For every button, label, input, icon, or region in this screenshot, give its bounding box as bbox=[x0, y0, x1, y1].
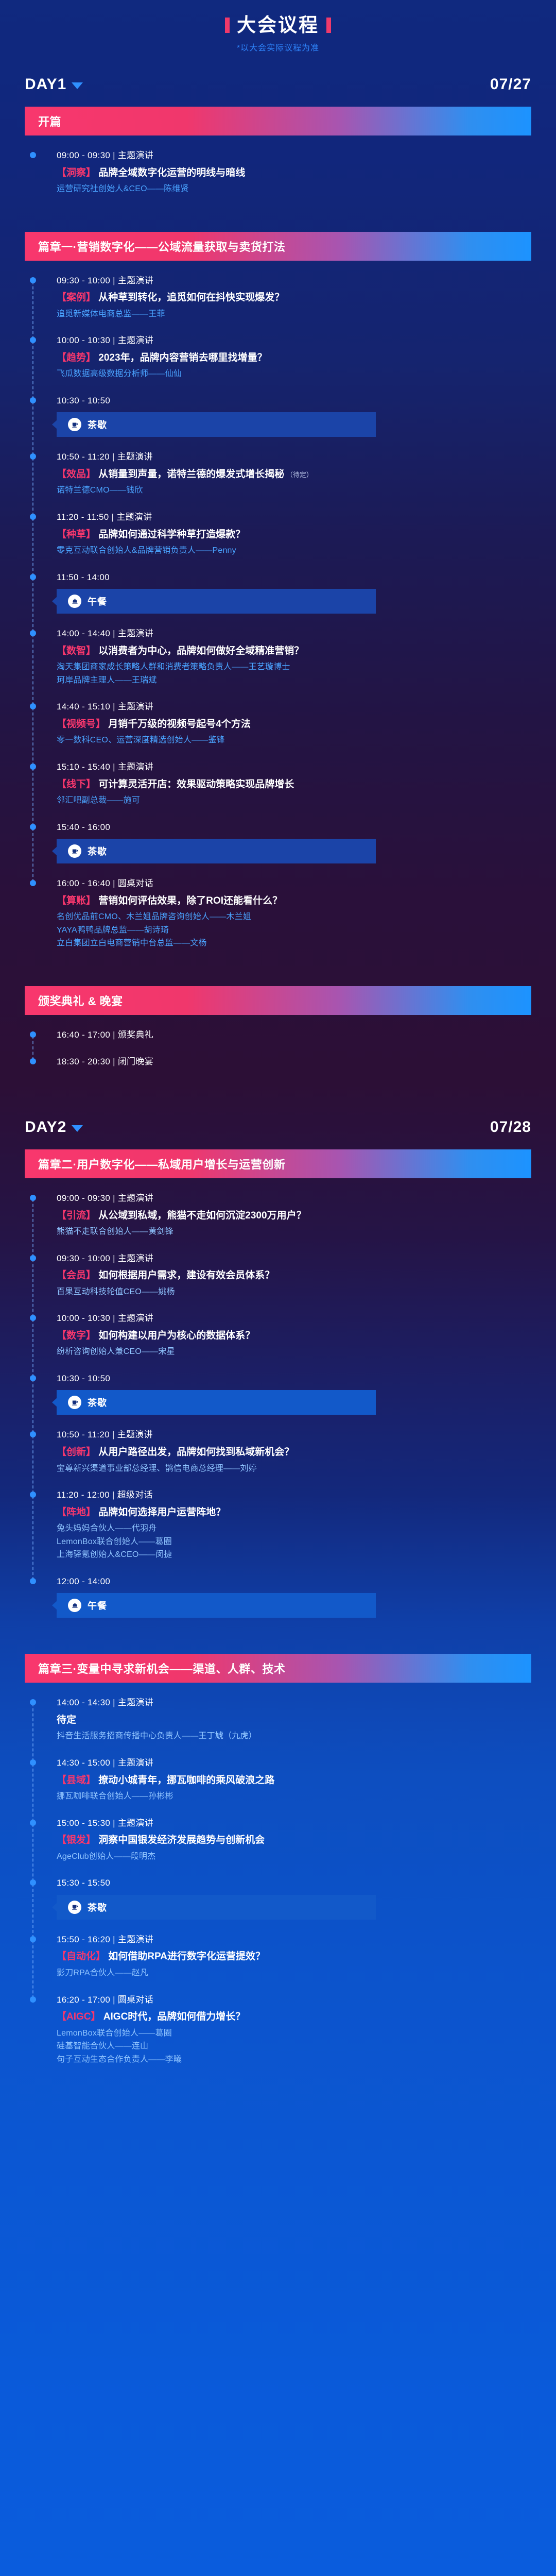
break-bar: 茶歇 bbox=[57, 1390, 376, 1415]
break-label: 茶歇 bbox=[88, 418, 107, 431]
break-label: 茶歇 bbox=[88, 844, 107, 858]
timeline-item: 15:10 - 15:40 | 主题演讲【线下】 可计算灵活开店：效果驱动策略实… bbox=[25, 760, 531, 821]
session-topic: 【引流】 从公域到私域，熊猫不走如何沉淀2300万用户？ bbox=[57, 1209, 531, 1223]
session-tag: 【数智】 bbox=[57, 646, 96, 656]
speaker: 零一数科CEO、运营深度精选创始人——鉴锋 bbox=[57, 734, 531, 747]
timeline-dot-icon bbox=[30, 574, 36, 580]
speaker: 立白集团立白电商营销中台总监——文杨 bbox=[57, 937, 531, 950]
timeline: 09:30 - 10:00 | 主题演讲【案例】 从种草到转化，追觅如何在抖快实… bbox=[25, 261, 531, 963]
session-time: 14:00 - 14:40 | 主题演讲 bbox=[57, 627, 531, 640]
session-time: 09:00 - 09:30 | 主题演讲 bbox=[57, 1192, 531, 1205]
timeline-item: 09:30 - 10:00 | 主题演讲【会员】 如何根据用户需求，建设有效会员… bbox=[25, 1252, 531, 1312]
session-time: 10:00 - 10:30 | 主题演讲 bbox=[57, 334, 531, 347]
speaker-list: 兔头妈妈合伙人——代羽舟LemonBox联合创始人——葛圈上海驿氪创始人&CEO… bbox=[57, 1522, 531, 1562]
timeline-item: 14:00 - 14:30 | 主题演讲待定抖音生活服务招商传播中心负责人——王… bbox=[25, 1696, 531, 1756]
session-tag: 【案例】 bbox=[57, 292, 96, 303]
speaker-list: 宝尊新兴渠道事业部总经理、鹊信电商总经理——刘婷 bbox=[57, 1462, 531, 1476]
chapter-banner-label: 颁奖典礼 & 晚宴 bbox=[38, 992, 123, 1009]
session-tag: 【视频号】 bbox=[57, 719, 106, 730]
chevron-down-icon[interactable] bbox=[72, 82, 83, 89]
session-tag: 【县域】 bbox=[57, 1775, 96, 1786]
session-time: 14:40 - 15:10 | 主题演讲 bbox=[57, 700, 531, 714]
page-title: 大会议程 bbox=[237, 15, 319, 35]
session-time: 09:00 - 09:30 | 主题演讲 bbox=[57, 149, 531, 162]
timeline-dot-icon bbox=[30, 880, 36, 886]
timeline-item: 10:00 - 10:30 | 主题演讲【趋势】 2023年，品牌内容营销去哪里… bbox=[25, 334, 531, 394]
session-topic: 【案例】 从种草到转化，追觅如何在抖快实现爆发？ bbox=[57, 291, 531, 305]
chapter-banner: 篇章一·营销数字化——公域流量获取与卖货打法 bbox=[25, 232, 531, 261]
speaker-list: 零克互动联合创始人&品牌营销负责人——Penny bbox=[57, 544, 531, 557]
timeline-dot-icon bbox=[30, 514, 36, 520]
session-time: 11:20 - 11:50 | 主题演讲 bbox=[57, 511, 531, 524]
timeline-item: 11:20 - 12:00 | 超级对话【阵地】 品牌如何选择用户运营阵地？兔头… bbox=[25, 1488, 531, 1575]
day-block-day2: DAY207/28篇章二·用户数字化——私域用户增长与运营创新09:00 - 0… bbox=[0, 1118, 556, 2094]
speaker-list: 追觅新媒体电商总监——王菲 bbox=[57, 308, 531, 321]
session-time: 14:00 - 14:30 | 主题演讲 bbox=[57, 1696, 531, 1709]
session-time: 10:00 - 10:30 | 主题演讲 bbox=[57, 1312, 531, 1325]
chapter-banner: 颁奖典礼 & 晚宴 bbox=[25, 986, 531, 1015]
timeline-item: 09:30 - 10:00 | 主题演讲【案例】 从种草到转化，追觅如何在抖快实… bbox=[25, 274, 531, 334]
speaker-list: 挪瓦咖啡联合创始人——孙彬彬 bbox=[57, 1790, 531, 1803]
tea-cup-icon bbox=[68, 1396, 81, 1409]
speaker: 追觅新媒体电商总监——王菲 bbox=[57, 308, 531, 321]
session-time: 11:20 - 12:00 | 超级对话 bbox=[57, 1488, 531, 1502]
timeline-dot-icon bbox=[30, 1820, 36, 1826]
session-tag: 【自动化】 bbox=[57, 1951, 106, 1962]
timeline: 09:00 - 09:30 | 主题演讲【洞察】 品牌全域数字化运营的明线与暗线… bbox=[25, 135, 531, 209]
speaker-list: 百果互动科技轮值CEO——姚杨 bbox=[57, 1285, 531, 1299]
timeline-item: 16:00 - 16:40 | 圆桌对话【算账】 营销如何评估效果，除了ROI还… bbox=[25, 877, 531, 963]
timeline-item: 15:40 - 16:00茶歇 bbox=[25, 821, 531, 877]
speaker-list: 邻汇吧副总裁——施可 bbox=[57, 794, 531, 807]
speaker-list: 飞瓜数据高级数据分析师——仙仙 bbox=[57, 367, 531, 381]
session-topic: 【AIGC】 AIGC时代，品牌如何借力增长？ bbox=[57, 2010, 531, 2024]
lunch-bell-icon bbox=[68, 1599, 81, 1612]
timeline-dot-icon bbox=[30, 453, 36, 460]
timeline-dot-icon bbox=[30, 277, 36, 283]
break-bar: 午餐 bbox=[57, 589, 376, 614]
timeline-item: 15:00 - 15:30 | 主题演讲【银发】 洞察中国银发经济发展趋势与创新… bbox=[25, 1817, 531, 1877]
timeline-item: 11:50 - 14:00午餐 bbox=[25, 571, 531, 628]
session-tag: 【AIGC】 bbox=[57, 2011, 101, 2022]
break-label: 午餐 bbox=[88, 1599, 107, 1612]
day-label-text: DAY1 bbox=[25, 76, 66, 93]
session-time: 15:30 - 15:50 bbox=[57, 1876, 531, 1890]
session-topic: 【种草】 品牌如何通过科学种草打造爆款？ bbox=[57, 528, 531, 542]
decorative-mark-right-icon bbox=[326, 18, 331, 33]
timeline-item: 16:20 - 17:00 | 圆桌对话【AIGC】 AIGC时代，品牌如何借力… bbox=[25, 1993, 531, 2080]
speaker-list: 运营研究社创始人&CEO——陈维贤 bbox=[57, 182, 531, 196]
session-topic: 【效品】 从销量到声量，诺特兰德的爆发式增长揭秘 （待定） bbox=[57, 467, 531, 482]
speaker: 挪瓦咖啡联合创始人——孙彬彬 bbox=[57, 1790, 531, 1803]
session-time: 18:30 - 20:30 | 闭门晚宴 bbox=[57, 1055, 531, 1069]
session-topic: 【数智】 以消费者为中心，品牌如何做好全域精准营销？ bbox=[57, 644, 531, 658]
agenda-root: DAY107/27开篇09:00 - 09:30 | 主题演讲【洞察】 品牌全域… bbox=[0, 76, 556, 2094]
timeline-item: 15:30 - 15:50茶歇 bbox=[25, 1876, 531, 1933]
session-tag: 【算账】 bbox=[57, 895, 96, 906]
timeline-item: 10:30 - 10:50茶歇 bbox=[25, 1372, 531, 1429]
session-time: 15:00 - 15:30 | 主题演讲 bbox=[57, 1817, 531, 1830]
speaker: 兔头妈妈合伙人——代羽舟 bbox=[57, 1522, 531, 1535]
speaker: 抖音生活服务招商传播中心负责人——王丁虓（九虎） bbox=[57, 1730, 531, 1743]
session-time: 10:30 - 10:50 bbox=[57, 1372, 531, 1385]
decorative-mark-left-icon bbox=[225, 18, 230, 33]
session-time: 16:20 - 17:00 | 圆桌对话 bbox=[57, 1993, 531, 2007]
session-topic: 待定 bbox=[57, 1713, 531, 1727]
speaker: 句子互动生态合作负责人——李曦 bbox=[57, 2053, 531, 2066]
chapter-banner: 开篇 bbox=[25, 107, 531, 135]
session-time: 12:00 - 14:00 bbox=[57, 1575, 531, 1588]
session-tag: 【会员】 bbox=[57, 1270, 96, 1281]
session-topic: 【银发】 洞察中国银发经济发展趋势与创新机会 bbox=[57, 1833, 531, 1848]
speaker: 飞瓜数据高级数据分析师——仙仙 bbox=[57, 367, 531, 381]
chapter-banner-label: 篇章一·营销数字化——公域流量获取与卖货打法 bbox=[38, 238, 285, 255]
session-topic: 【县域】 撩动小城青年，挪瓦咖啡的乘风破浪之路 bbox=[57, 1773, 531, 1788]
timeline-dot-icon bbox=[30, 1315, 36, 1321]
speaker: YAYA鸭鸭品牌总监——胡诗琦 bbox=[57, 924, 531, 937]
session-time: 09:30 - 10:00 | 主题演讲 bbox=[57, 1252, 531, 1265]
session-topic: 【会员】 如何根据用户需求，建设有效会员体系？ bbox=[57, 1268, 531, 1283]
day-date: 07/27 bbox=[490, 76, 531, 93]
session-tag: 【创新】 bbox=[57, 1447, 96, 1458]
timeline-dot-icon bbox=[30, 1031, 36, 1038]
timeline-item: 16:40 - 17:00 | 颁奖典礼 bbox=[25, 1028, 531, 1055]
chapter-banner-label: 篇章二·用户数字化——私域用户增长与运营创新 bbox=[38, 1156, 285, 1172]
speaker: 影刀RPA合伙人——赵凡 bbox=[57, 1967, 531, 1980]
session-tag: 【洞察】 bbox=[57, 167, 96, 178]
section-spacer bbox=[0, 209, 556, 218]
speaker-list: LemonBox联合创始人——葛圈硅基智能合伙人——连山句子互动生态合作负责人—… bbox=[57, 2027, 531, 2066]
speaker: AgeClub创始人——段明杰 bbox=[57, 1850, 531, 1863]
tea-cup-icon bbox=[68, 418, 81, 431]
day-date: 07/28 bbox=[490, 1118, 531, 1136]
timeline-item: 09:00 - 09:30 | 主题演讲【引流】 从公域到私域，熊猫不走如何沉淀… bbox=[25, 1192, 531, 1252]
timeline-dot-icon bbox=[30, 703, 36, 709]
timeline-dot-icon bbox=[30, 337, 36, 343]
break-bar: 茶歇 bbox=[57, 1895, 376, 1920]
break-label: 茶歇 bbox=[88, 1396, 107, 1409]
speaker: 运营研究社创始人&CEO——陈维贤 bbox=[57, 182, 531, 196]
speaker-list: 淘天集团商家成长策略人群和消费者策略负责人——王艺璇博士珂岸品牌主理人——王瑞斌 bbox=[57, 660, 531, 687]
timeline-item: 10:00 - 10:30 | 主题演讲【数字】 如何构建以用户为核心的数据体系… bbox=[25, 1312, 531, 1372]
timeline-item: 14:30 - 15:00 | 主题演讲【县域】 撩动小城青年，挪瓦咖啡的乘风破… bbox=[25, 1756, 531, 1817]
chapter-banner: 篇章三·变量中寻求新机会——渠道、人群、技术 bbox=[25, 1654, 531, 1683]
speaker: 百果互动科技轮值CEO——姚杨 bbox=[57, 1285, 531, 1299]
speaker: 零克互动联合创始人&品牌营销负责人——Penny bbox=[57, 544, 531, 557]
session-tag: 【种草】 bbox=[57, 529, 96, 540]
speaker: LemonBox联合创始人——葛圈 bbox=[57, 1535, 531, 1549]
timeline-item: 15:50 - 16:20 | 主题演讲【自动化】 如何借助RPA进行数字化运营… bbox=[25, 1933, 531, 1993]
break-label: 茶歇 bbox=[88, 1901, 107, 1914]
section-spacer bbox=[0, 963, 556, 973]
session-time: 16:40 - 17:00 | 颁奖典礼 bbox=[57, 1028, 531, 1042]
speaker-list: 诺特兰德CMO——钱欣 bbox=[57, 484, 531, 497]
session-time: 15:40 - 16:00 bbox=[57, 821, 531, 834]
session-time: 14:30 - 15:00 | 主题演讲 bbox=[57, 1756, 531, 1770]
speaker: 珂岸品牌主理人——王瑞斌 bbox=[57, 674, 531, 687]
timeline-dot-icon bbox=[30, 764, 36, 770]
session-tag: 【阵地】 bbox=[57, 1507, 96, 1518]
session-time: 15:50 - 16:20 | 主题演讲 bbox=[57, 1933, 531, 1946]
timeline-dot-icon bbox=[30, 1492, 36, 1498]
tea-cup-icon bbox=[68, 1901, 81, 1914]
section-spacer bbox=[0, 1081, 556, 1091]
session-topic: 【线下】 可计算灵活开店：效果驱动策略实现品牌增长 bbox=[57, 777, 531, 792]
timeline-dot-icon bbox=[30, 1195, 36, 1201]
speaker: 诺特兰德CMO——钱欣 bbox=[57, 484, 531, 497]
chapter-banner-label: 开篇 bbox=[38, 113, 61, 129]
session-time: 10:50 - 11:20 | 主题演讲 bbox=[57, 450, 531, 464]
day-block-day1: DAY107/27开篇09:00 - 09:30 | 主题演讲【洞察】 品牌全域… bbox=[0, 76, 556, 1096]
timeline-dot-icon bbox=[30, 1431, 36, 1437]
timeline-dot-icon bbox=[30, 1255, 36, 1261]
timeline-dot-icon bbox=[30, 630, 36, 636]
speaker-list: 熊猫不走联合创始人——黄剑锋 bbox=[57, 1225, 531, 1239]
timeline-dot-icon bbox=[30, 824, 36, 830]
timeline-dot-icon bbox=[30, 1996, 36, 2003]
timeline: 14:00 - 14:30 | 主题演讲待定抖音生活服务招商传播中心负责人——王… bbox=[25, 1683, 531, 2079]
speaker-list: 零一数科CEO、运营深度精选创始人——鉴锋 bbox=[57, 734, 531, 747]
timeline-dot-icon bbox=[30, 1058, 36, 1064]
timeline-dot-icon bbox=[30, 1699, 36, 1705]
session-time: 09:30 - 10:00 | 主题演讲 bbox=[57, 274, 531, 287]
session-time: 10:30 - 10:50 bbox=[57, 394, 531, 408]
timeline-item: 12:00 - 14:00午餐 bbox=[25, 1575, 531, 1632]
timeline-item: 14:40 - 15:10 | 主题演讲【视频号】 月销千万级的视频号起号4个方… bbox=[25, 700, 531, 760]
chevron-down-icon[interactable] bbox=[72, 1125, 83, 1132]
section-spacer bbox=[0, 2079, 556, 2089]
session-topic: 【算账】 营销如何评估效果，除了ROI还能看什么？ bbox=[57, 894, 531, 908]
speaker: 宝尊新兴渠道事业部总经理、鹊信电商总经理——刘婷 bbox=[57, 1462, 531, 1476]
timeline-dot-icon bbox=[30, 1936, 36, 1942]
session-topic: 【创新】 从用户路径出发，品牌如何找到私域新机会？ bbox=[57, 1445, 531, 1460]
timeline-dot-icon bbox=[30, 1375, 36, 1381]
session-time: 16:00 - 16:40 | 圆桌对话 bbox=[57, 877, 531, 890]
timeline-dot-icon bbox=[30, 1879, 36, 1886]
day-header: DAY107/27 bbox=[25, 76, 531, 93]
session-time: 11:50 - 14:00 bbox=[57, 571, 531, 584]
speaker: 纷析咨询创始人兼CEO——宋星 bbox=[57, 1345, 531, 1359]
session-topic: 【自动化】 如何借助RPA进行数字化运营提效？ bbox=[57, 1950, 531, 1964]
timeline-item: 14:00 - 14:40 | 主题演讲【数智】 以消费者为中心，品牌如何做好全… bbox=[25, 627, 531, 700]
session-time: 15:10 - 15:40 | 主题演讲 bbox=[57, 760, 531, 774]
day-header: DAY207/28 bbox=[25, 1118, 531, 1136]
timeline-item: 11:20 - 11:50 | 主题演讲【种草】 品牌如何通过科学种草打造爆款？… bbox=[25, 511, 531, 571]
tea-cup-icon bbox=[68, 844, 81, 858]
break-bar: 茶歇 bbox=[57, 839, 376, 863]
lunch-bell-icon bbox=[68, 595, 81, 608]
speaker: 邻汇吧副总裁——施可 bbox=[57, 794, 531, 807]
timeline-item: 10:50 - 11:20 | 主题演讲【效品】 从销量到声量，诺特兰德的爆发式… bbox=[25, 450, 531, 511]
timeline: 09:00 - 09:30 | 主题演讲【引流】 从公域到私域，熊猫不走如何沉淀… bbox=[25, 1178, 531, 1631]
timeline-dot-icon bbox=[30, 397, 36, 403]
speaker: LemonBox联合创始人——葛圈 bbox=[57, 2027, 531, 2040]
session-tag: 【引流】 bbox=[57, 1210, 96, 1221]
break-bar: 茶歇 bbox=[57, 412, 376, 437]
session-tag: 【银发】 bbox=[57, 1835, 96, 1845]
chapter-banner-label: 篇章三·变量中寻求新机会——渠道、人群、技术 bbox=[38, 1660, 285, 1676]
timeline-dot-icon bbox=[30, 1759, 36, 1766]
day-selector[interactable]: DAY2 bbox=[25, 1118, 83, 1136]
timeline-item: 18:30 - 20:30 | 闭门晚宴 bbox=[25, 1055, 531, 1082]
chapter-banner: 篇章二·用户数字化——私域用户增长与运营创新 bbox=[25, 1149, 531, 1178]
break-label: 午餐 bbox=[88, 595, 107, 608]
session-topic: 【洞察】 品牌全域数字化运营的明线与暗线 bbox=[57, 166, 531, 180]
section-spacer bbox=[0, 1631, 556, 1640]
break-bar: 午餐 bbox=[57, 1593, 376, 1618]
speaker: 上海驿氪创始人&CEO——闵捷 bbox=[57, 1548, 531, 1562]
speaker: 硅基智能合伙人——连山 bbox=[57, 2040, 531, 2053]
title-row: 大会议程 bbox=[0, 15, 556, 35]
speaker: 熊猫不走联合创始人——黄剑锋 bbox=[57, 1225, 531, 1239]
session-tag: 【线下】 bbox=[57, 779, 96, 790]
session-time: 10:50 - 11:20 | 主题演讲 bbox=[57, 1428, 531, 1442]
speaker-list: 纷析咨询创始人兼CEO——宋星 bbox=[57, 1345, 531, 1359]
timeline-dot-icon bbox=[30, 152, 36, 158]
session-tag: 【效品】 bbox=[57, 469, 96, 480]
speaker-list: 影刀RPA合伙人——赵凡 bbox=[57, 1967, 531, 1980]
speaker-list: 抖音生活服务招商传播中心负责人——王丁虓（九虎） bbox=[57, 1730, 531, 1743]
speaker-list: 名创优品前CMO、木兰姐品牌咨询创始人——木兰姐YAYA鸭鸭品牌总监——胡诗琦立… bbox=[57, 910, 531, 950]
session-topic: 【视频号】 月销千万级的视频号起号4个方法 bbox=[57, 717, 531, 732]
speaker: 名创优品前CMO、木兰姐品牌咨询创始人——木兰姐 bbox=[57, 910, 531, 924]
session-tag: 【数字】 bbox=[57, 1330, 96, 1341]
page-subtitle: *以大会实际议程为准 bbox=[0, 41, 556, 53]
page-header: 大会议程 *以大会实际议程为准 bbox=[0, 0, 556, 53]
session-note: （待定） bbox=[284, 471, 313, 479]
session-topic: 【数字】 如何构建以用户为核心的数据体系？ bbox=[57, 1329, 531, 1343]
speaker: 淘天集团商家成长策略人群和消费者策略负责人——王艺璇博士 bbox=[57, 660, 531, 674]
timeline: 16:40 - 17:00 | 颁奖典礼18:30 - 20:30 | 闭门晚宴 bbox=[25, 1015, 531, 1081]
session-topic: 【趋势】 2023年，品牌内容营销去哪里找增量？ bbox=[57, 351, 531, 365]
day-selector[interactable]: DAY1 bbox=[25, 76, 83, 93]
timeline-dot-icon bbox=[30, 1578, 36, 1584]
timeline-item: 09:00 - 09:30 | 主题演讲【洞察】 品牌全域数字化运营的明线与暗线… bbox=[25, 149, 531, 209]
session-tag: 【趋势】 bbox=[57, 352, 96, 363]
speaker-list: AgeClub创始人——段明杰 bbox=[57, 1850, 531, 1863]
day-label-text: DAY2 bbox=[25, 1118, 66, 1136]
timeline-item: 10:30 - 10:50茶歇 bbox=[25, 394, 531, 451]
session-topic: 【阵地】 品牌如何选择用户运营阵地？ bbox=[57, 1505, 531, 1520]
timeline-item: 10:50 - 11:20 | 主题演讲【创新】 从用户路径出发，品牌如何找到私… bbox=[25, 1428, 531, 1488]
